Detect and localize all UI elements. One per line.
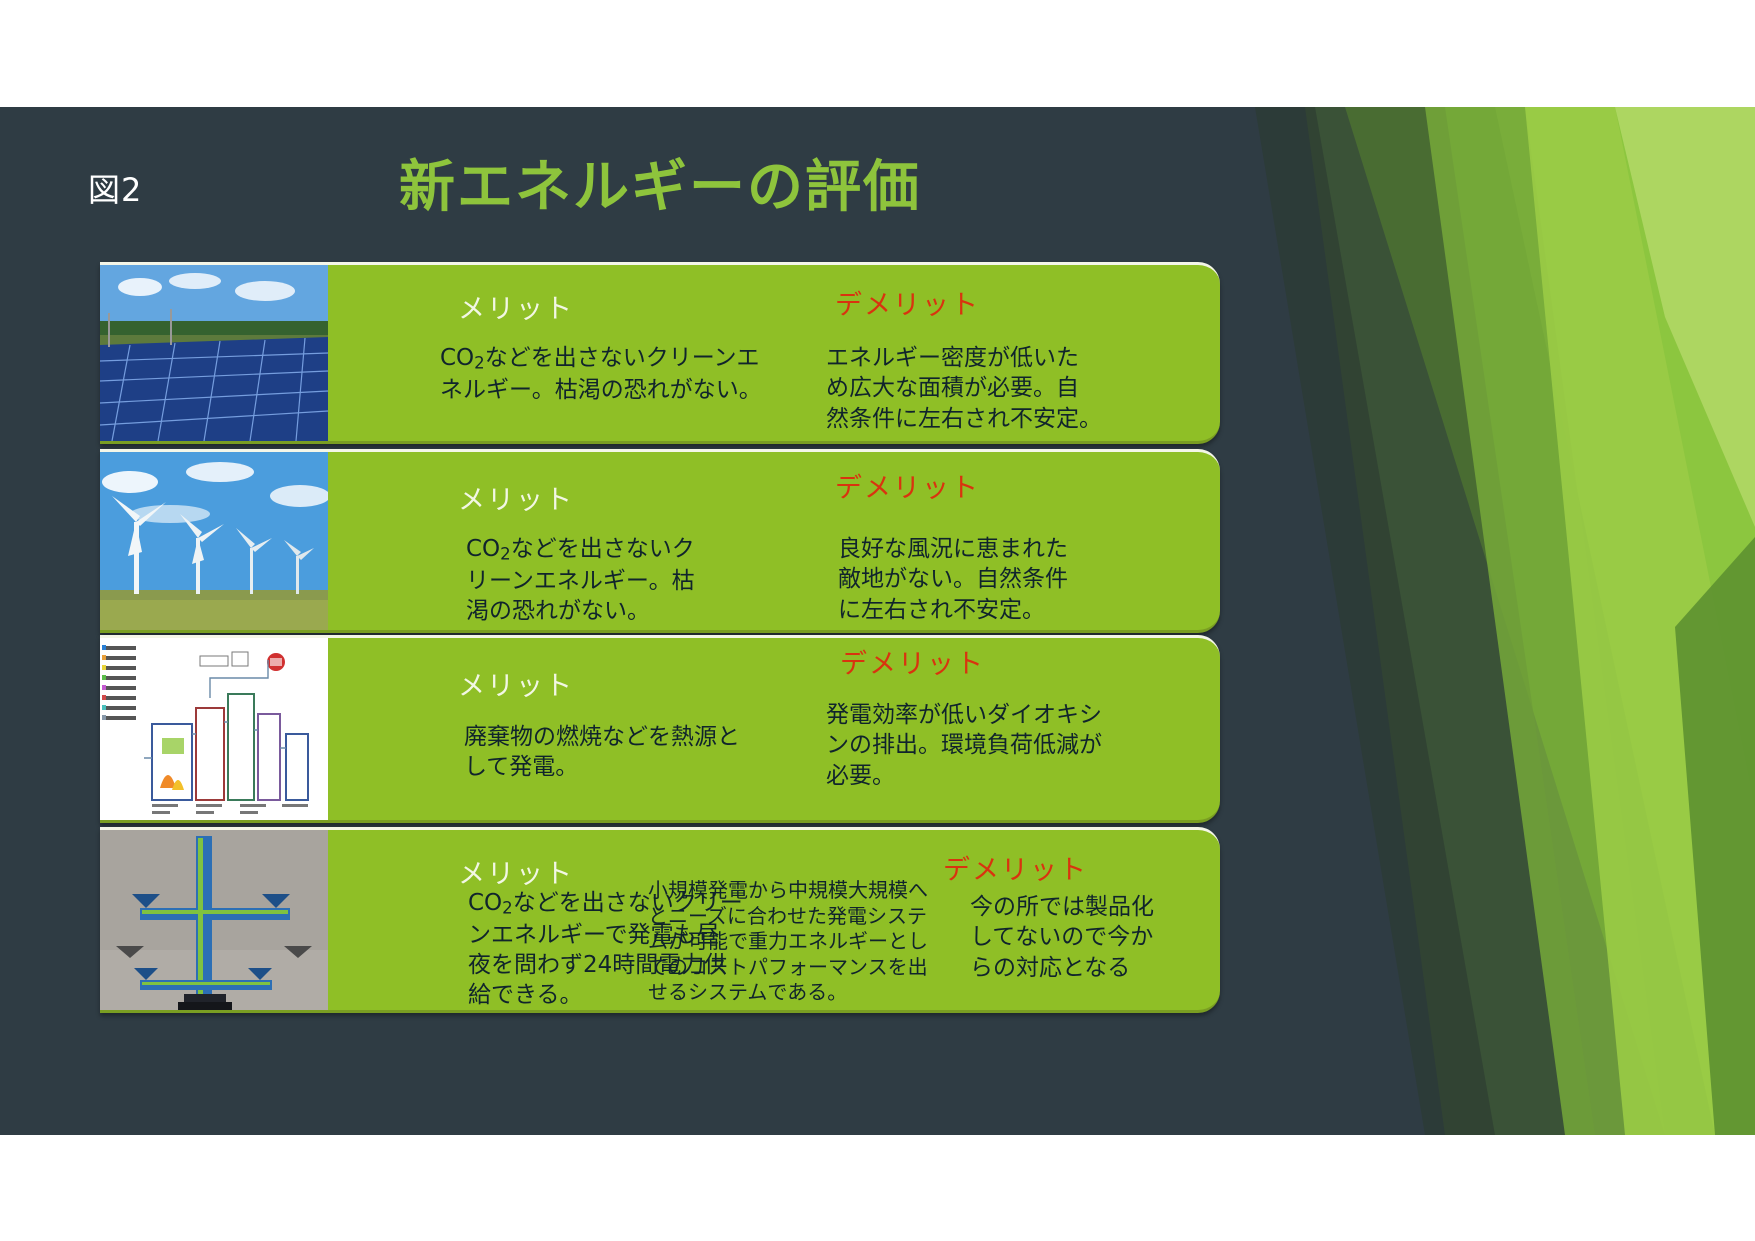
merit-heading: メリット [458,852,574,891]
row-wind: メリット CO2などを出さないク リーンエネルギー。枯 渇の恐れがない。 デメリ… [100,449,1220,633]
demerit-heading: デメリット [943,848,1088,887]
demerit-body: エネルギー密度が低いた め広大な面積が必要。自 然条件に左右され不安定。 [826,343,1146,434]
merit-body: 廃棄物の燃焼などを熱源と して発電。 [464,722,784,783]
demerit-heading: デメリット [835,466,980,505]
merit-body: CO2などを出さないク リーンエネルギー。枯 渇の恐れがない。 [466,534,766,626]
demerit-body: 発電効率が低いダイオキシ ンの排出。環境負荷低減が 必要。 [826,700,1146,791]
gravity-generator-photo [100,830,328,1010]
demerit-body: 良好な風況に恵まれた 敵地がない。自然条件 に左右され不安定。 [838,534,1138,625]
row-solar: メリット CO2などを出さないクリーンエ ネルギー。枯渇の恐れがない。 デメリッ… [100,262,1220,444]
merit-heading: メリット [458,664,574,703]
solar-panel-photo [100,265,328,441]
demerit-heading: デメリット [840,642,985,681]
slide-canvas: 図2 新エネルギーの評価 [0,107,1755,1135]
middle-body: 小規模発電から中規模大規模へ とニーズに合わせた発電システ ムが可能で重力エネル… [648,878,938,1006]
row-gravity: メリット CO2などを出さないクリー ンエネルギーで発電も昼 夜を問わず24時間… [100,827,1220,1013]
wind-turbine-photo [100,452,328,630]
page-title: 新エネルギーの評価 [0,142,1320,223]
merit-heading: メリット [458,287,574,326]
demerit-heading: デメリット [835,283,980,322]
merit-heading: メリット [458,478,574,517]
decorative-green-chevrons [1195,107,1755,1135]
demerit-body: 今の所では製品化 してないので今か らの対応となる [970,892,1200,983]
waste-incineration-diagram [100,638,328,820]
merit-body: CO2などを出さないクリーンエ ネルギー。枯渇の恐れがない。 [440,343,770,405]
row-waste: メリット 廃棄物の燃焼などを熱源と して発電。 デメリット 発電効率が低いダイオ… [100,635,1220,823]
